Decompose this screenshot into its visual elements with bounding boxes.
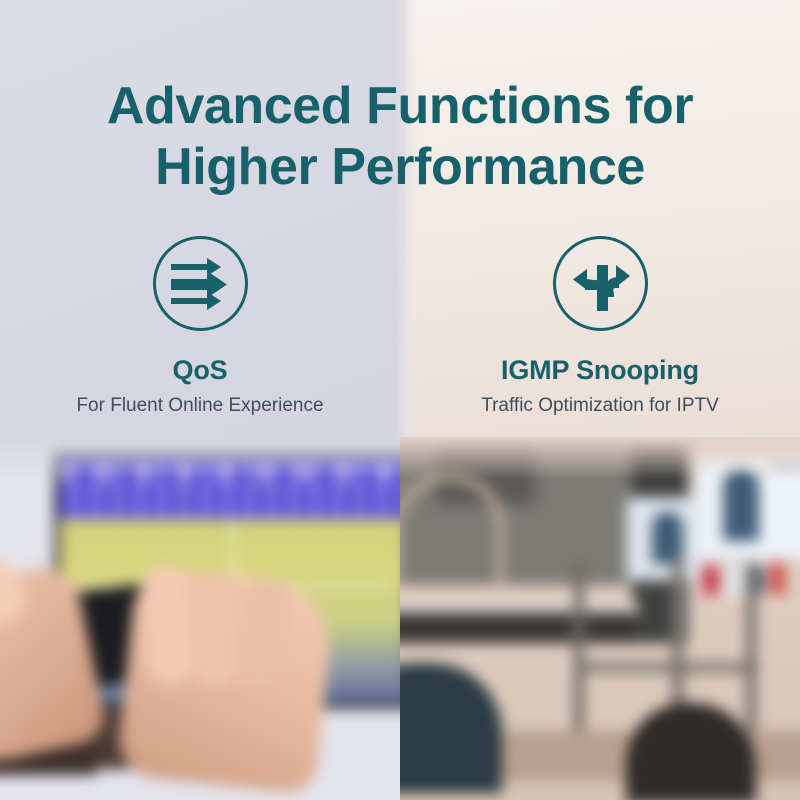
photo-showroom-content (400, 437, 800, 800)
headline-line-1: Advanced Functions for (0, 76, 800, 137)
feature-subtitle: Traffic Optimization for IPTV (481, 394, 719, 417)
three-arrows-right-icon (153, 236, 248, 331)
photo-gaming-content (0, 437, 400, 800)
feature-item-igmp-snooping: IGMP Snooping Traffic Optimization for I… (400, 236, 800, 436)
page-title: Advanced Functions for Higher Performanc… (0, 76, 800, 198)
feature-title: QoS (173, 355, 228, 385)
branching-arrow-icon (553, 236, 648, 331)
promo-banner: Advanced Functions for Higher Performanc… (0, 0, 800, 800)
feature-subtitle: For Fluent Online Experience (76, 394, 323, 417)
photo-showroom (400, 437, 800, 800)
feature-title: IGMP Snooping (501, 355, 699, 385)
headline-line-2: Higher Performance (0, 137, 800, 198)
feature-item-qos: QoS For Fluent Online Experience (0, 236, 400, 436)
photo-band (0, 437, 800, 800)
feature-list: QoS For Fluent Online Experience (0, 236, 800, 436)
photo-gaming (0, 437, 400, 800)
